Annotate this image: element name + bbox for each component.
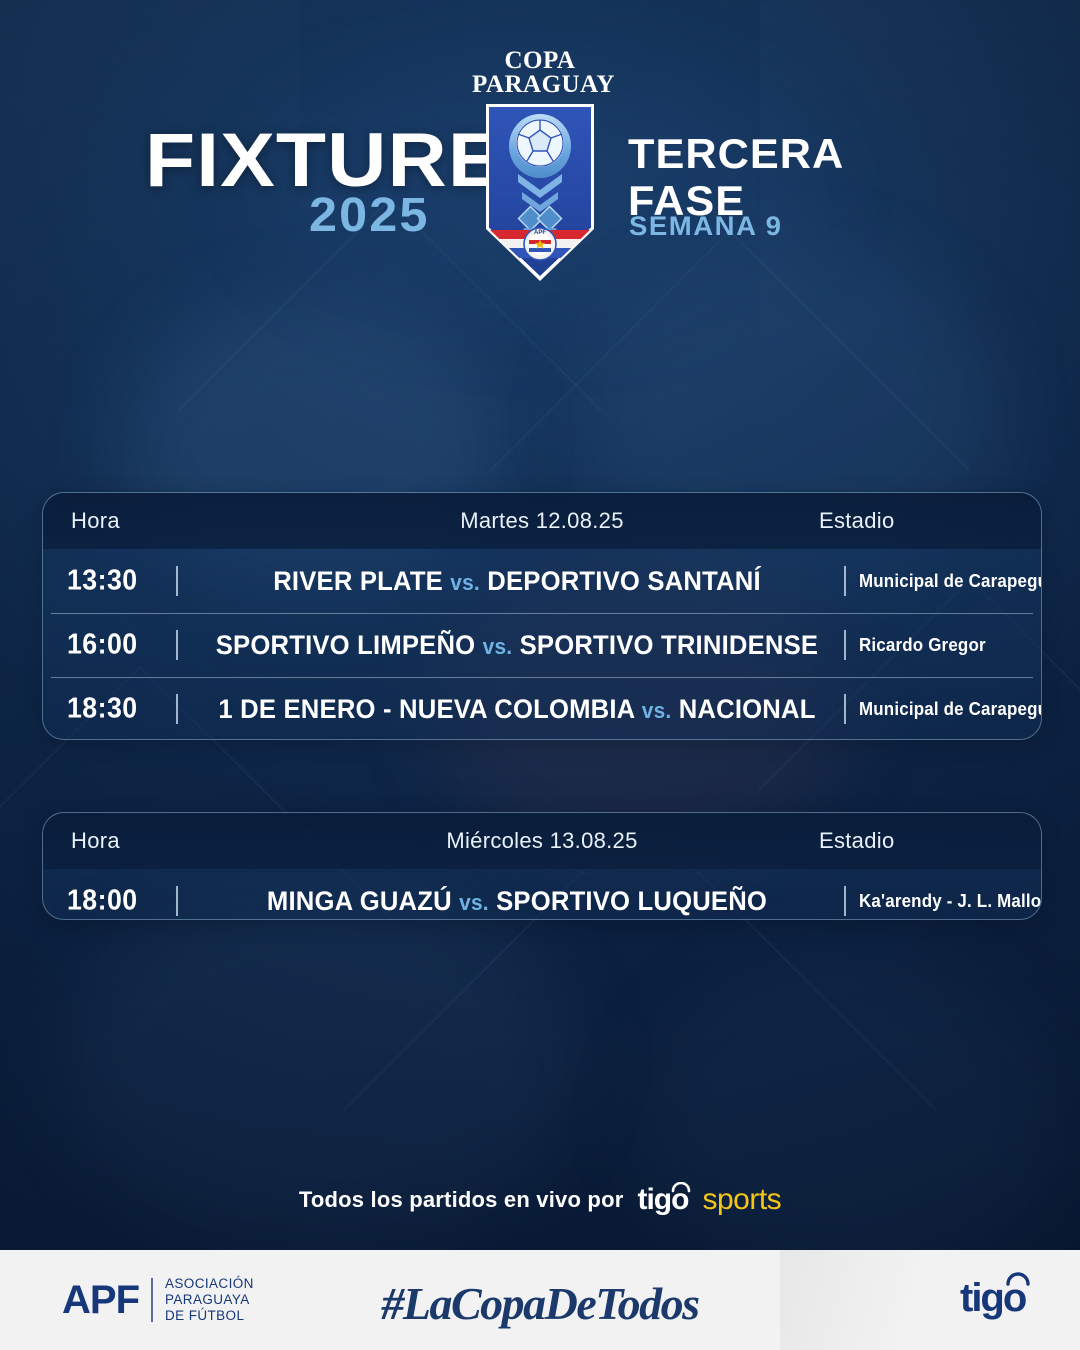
table-row[interactable]: 18:00 MINGA GUAZÚ vs. SPORTIVO LUQUEÑO K…	[43, 869, 1041, 920]
match-teams: 1 DE ENERO - NUEVA COLOMBIA vs. NACIONAL	[209, 694, 825, 725]
table-row[interactable]: 13:30 RIVER PLATE vs. DEPORTIVO SANTANÍ …	[43, 549, 1041, 613]
copa-paraguay-crest-icon: COPA PARAGUAY	[472, 47, 608, 292]
match-teams: SPORTIVO LIMPEÑO vs. SPORTIVO TRINIDENSE	[209, 630, 825, 661]
column-header-estadio: Estadio	[819, 828, 894, 854]
match-time: 18:00	[67, 885, 138, 918]
match-stadium: Ka'arendy - J. L. Mallorquín	[859, 891, 1042, 912]
vs-label: vs.	[483, 634, 513, 659]
row-divider-right	[844, 630, 846, 660]
away-team: NACIONAL	[679, 694, 816, 724]
page-title: FIXTURE	[145, 123, 504, 199]
home-team: SPORTIVO LIMPEÑO	[216, 630, 476, 660]
match-time: 18:30	[67, 693, 138, 726]
poster-canvas: FIXTURE 2025 COPA PARAGUAY	[0, 0, 1080, 1350]
match-teams: RIVER PLATE vs. DEPORTIVO SANTANÍ	[209, 566, 825, 597]
match-time: 13:30	[67, 565, 138, 598]
row-divider-left	[176, 630, 178, 660]
match-teams: MINGA GUAZÚ vs. SPORTIVO LUQUEÑO	[209, 886, 825, 917]
poster-header: FIXTURE 2025 COPA PARAGUAY	[0, 0, 1080, 300]
row-divider-right	[844, 886, 846, 916]
table-row[interactable]: 16:00 SPORTIVO LIMPEÑO vs. SPORTIVO TRIN…	[43, 613, 1041, 677]
season-year: 2025	[309, 192, 430, 240]
away-team: SPORTIVO LUQUEÑO	[496, 886, 767, 916]
row-divider-right	[844, 566, 846, 596]
row-divider-left	[176, 886, 178, 916]
phase-label-line1: TERCERA	[628, 133, 844, 175]
home-team: MINGA GUAZÚ	[267, 886, 452, 916]
table-header-row: Hora Martes 12.08.25 Estadio	[43, 493, 1041, 549]
tigo-logo-icon: tigo	[637, 1185, 688, 1215]
broadcast-note: Todos los partidos en vivo por tigo spor…	[0, 1183, 1080, 1217]
match-stadium: Municipal de Carapeguá	[859, 571, 1042, 592]
broadcast-text: Todos los partidos en vivo por	[299, 1187, 624, 1213]
away-team: DEPORTIVO SANTANÍ	[487, 566, 761, 596]
week-label: SEMANA 9	[629, 213, 783, 240]
match-stadium: Municipal de Carapeguá	[859, 699, 1042, 720]
vs-label: vs.	[459, 890, 489, 915]
home-team: 1 DE ENERO - NUEVA COLOMBIA	[218, 694, 634, 724]
home-team: RIVER PLATE	[273, 566, 443, 596]
away-team: SPORTIVO TRINIDENSE	[520, 630, 819, 660]
fixture-table-day-2: Hora Miércoles 13.08.25 Estadio 18:00 MI…	[42, 812, 1042, 920]
row-divider-right	[844, 694, 846, 724]
row-divider-left	[176, 694, 178, 724]
row-divider-left	[176, 566, 178, 596]
column-header-estadio: Estadio	[819, 508, 894, 534]
campaign-hashtag: #LaCopaDeTodos	[0, 1277, 1080, 1330]
match-stadium: Ricardo Gregor	[859, 635, 1042, 656]
match-time: 16:00	[67, 629, 138, 662]
table-row[interactable]: 18:30 1 DE ENERO - NUEVA COLOMBIA vs. NA…	[43, 677, 1041, 740]
table-header-row: Hora Miércoles 13.08.25 Estadio	[43, 813, 1041, 869]
tigo-sports-label: sports	[702, 1183, 781, 1217]
crest-badge-label: APF	[534, 230, 546, 236]
tigo-footer-logo-icon: tigo	[960, 1278, 1025, 1318]
crest-line-paraguay: PARAGUAY	[472, 71, 608, 99]
vs-label: vs.	[450, 570, 480, 595]
fixture-table-day-1: Hora Martes 12.08.25 Estadio 13:30 RIVER…	[42, 492, 1042, 740]
vs-label: vs.	[642, 698, 672, 723]
